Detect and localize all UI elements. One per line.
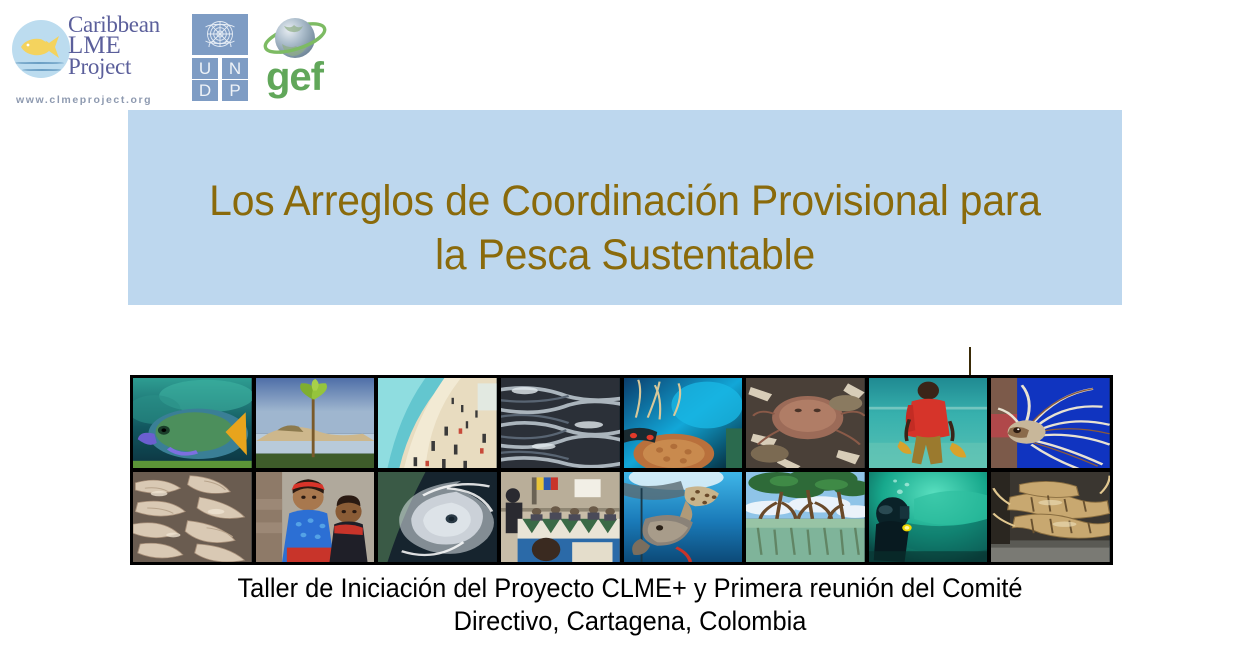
photo-scuba-diver	[869, 472, 988, 562]
un-emblem-box	[192, 14, 248, 55]
caribbean-lme-project-logo: Caribbean LME Project www.clmeproject.or…	[8, 12, 168, 98]
wave-icon	[22, 69, 62, 71]
clme-wordmark: Caribbean LME Project	[68, 14, 168, 77]
slide-caption: Taller de Iniciación del Proyecto CLME+ …	[179, 572, 1081, 638]
photo-collage	[130, 375, 1113, 565]
slide-title-banner[interactable]: Los Arreglos de Coordinación Provisional…	[128, 110, 1122, 305]
photo-lionfish	[991, 378, 1110, 468]
photo-beach-tourists	[378, 378, 497, 468]
undp-letter-d: D	[192, 80, 218, 101]
gef-logo: gef	[256, 14, 334, 98]
photo-crabs	[746, 378, 865, 468]
photo-lobsters	[991, 472, 1110, 562]
photo-woman-child	[256, 472, 375, 562]
photo-mangrove-roots	[746, 472, 865, 562]
slide-title[interactable]: Los Arreglos de Coordinación Provisional…	[153, 174, 1097, 282]
un-emblem-icon	[203, 17, 237, 51]
photo-spearfishing	[624, 472, 743, 562]
undp-letter-p: P	[222, 80, 248, 101]
photo-fish-catch	[501, 378, 620, 468]
wave-icon	[14, 62, 64, 64]
photo-queen-angelfish	[133, 378, 252, 468]
gef-wordmark: gef	[266, 56, 323, 98]
photo-mangrove-seedling	[256, 378, 375, 468]
fish-icon	[19, 34, 61, 60]
logo-bar: Caribbean LME Project www.clmeproject.or…	[0, 0, 1258, 108]
photo-hurricane	[378, 472, 497, 562]
photo-fisherman	[869, 378, 988, 468]
photo-shrimp	[133, 472, 252, 562]
clme-website-url: www.clmeproject.org	[16, 94, 152, 106]
undp-logo: U N D P	[192, 14, 248, 100]
clme-fish-circle-icon	[12, 20, 70, 78]
clme-wordmark-line3: Project	[68, 56, 168, 77]
photo-coral-reef	[624, 378, 743, 468]
photo-meeting	[501, 472, 620, 562]
undp-letter-n: N	[222, 58, 248, 79]
undp-letter-u: U	[192, 58, 218, 79]
